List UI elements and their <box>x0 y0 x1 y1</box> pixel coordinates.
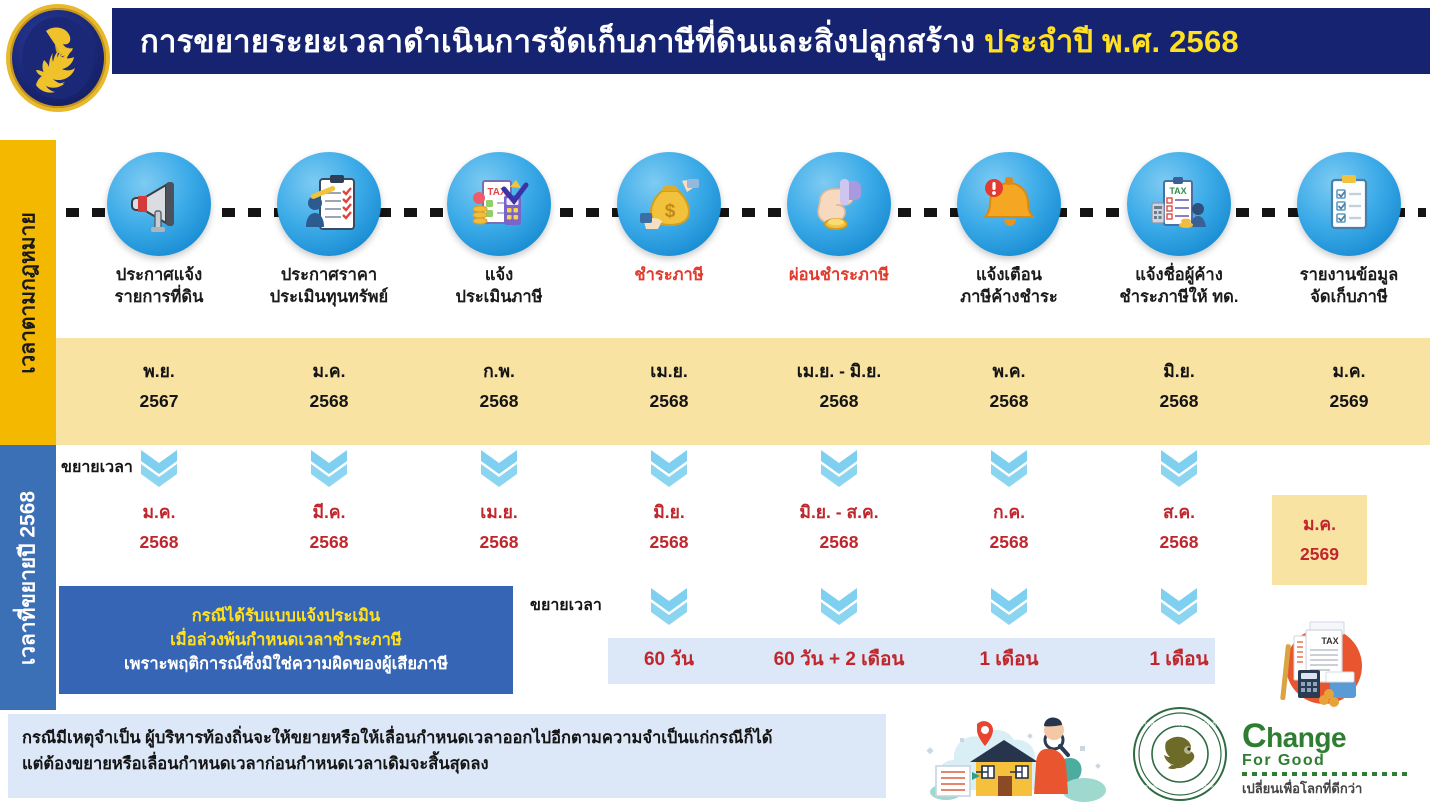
chevron-down-icon-3 <box>478 447 520 487</box>
extended-date-1: ม.ค.2568 <box>74 497 244 557</box>
legal-date-5: เม.ย. - มิ.ย.2568 <box>754 356 924 416</box>
chevron-down-icon-11 <box>1158 585 1200 625</box>
timeline-step-7-label: แจ้งชื่อผู้ค้างชำระภาษีให้ ทด. <box>1094 265 1264 309</box>
timeline-step-8-label: รายงานข้อมูลจัดเก็บภาษี <box>1264 265 1430 309</box>
page-header: การขยายระยะเวลาดำเนินการจัดเก็บภาษีที่ดิ… <box>0 0 1430 82</box>
legal-date-1: พ.ย.2567 <box>74 356 244 416</box>
svg-text:DEPARTMENT OF LOCAL ADMINISTRA: DEPARTMENT OF LOCAL ADMINISTRATION <box>1133 784 1228 789</box>
legal-date-4: เม.ย.2568 <box>584 356 754 416</box>
chevron-down-icon-5 <box>818 447 860 487</box>
timeline-step-4[interactable]: $ ชำระภาษี <box>584 142 754 287</box>
extended-date-2: มี.ค.2568 <box>244 497 414 557</box>
extend-tag-row2: ขยายเวลา <box>530 593 602 618</box>
timeline-step-3-label: แจ้งประเมินภาษี <box>414 265 584 309</box>
garuda-singha-emblem <box>6 4 110 112</box>
extended-date-5: มิ.ย. - ส.ค.2568 <box>754 497 924 557</box>
timeline-step-6[interactable]: แจ้งเตือนภาษีค้างชำระ <box>924 142 1094 309</box>
header-bar: การขยายระยะเวลาดำเนินการจัดเก็บภาษีที่ดิ… <box>112 8 1430 74</box>
change-for-good-logo: Change For Good เปลี่ยนเพื่อโลกที่ดีกว่า <box>1242 720 1410 796</box>
timeline-step-4-label: ชำระภาษี <box>584 265 754 287</box>
tax-documents-illustration: TAX <box>1268 608 1376 710</box>
timeline-step-5-label: ผ่อนชำระภาษี <box>754 265 924 287</box>
page-title-main: การขยายระยะเวลาดำเนินการจัดเก็บภาษีที่ดิ… <box>140 24 975 59</box>
svg-text:TAX: TAX <box>1169 186 1186 196</box>
extended-date-4: มิ.ย.2568 <box>584 497 754 557</box>
duration-3: 1 เดือน <box>924 644 1094 674</box>
legal-date-2: ม.ค.2568 <box>244 356 414 416</box>
sidebar-extended-label: เวลาที่ขยายปี 2568 <box>12 490 45 664</box>
chevron-down-icon-8 <box>648 585 690 625</box>
duration-2: 60 วัน + 2 เดือน <box>754 644 924 674</box>
sidebar-extended-time: เวลาที่ขยายปี 2568 <box>0 445 56 710</box>
chevron-down-icon-10 <box>988 585 1030 625</box>
cfg-hange-letters: hange <box>1266 722 1346 753</box>
page-title: การขยายระยะเวลาดำเนินการจัดเก็บภาษีที่ดิ… <box>140 16 1239 66</box>
legal-date-6: พ.ค.2568 <box>924 356 1094 416</box>
alert-bell-icon <box>957 152 1061 256</box>
cfg-change-text: Change <box>1242 720 1410 752</box>
page-title-year: ประจำปี พ.ศ. 2568 <box>984 24 1239 59</box>
chevron-down-icon-9 <box>818 585 860 625</box>
extended-date-7: ส.ค.2568 <box>1094 497 1264 557</box>
legal-date-3: ก.พ.2568 <box>414 356 584 416</box>
callout-line-3: เพราะพฤติการณ์ซึ่งมิใช่ความผิดของผู้เสีย… <box>124 653 448 675</box>
tax-assessment-icon: TAX <box>447 152 551 256</box>
extend-tag-row1: ขยายเวลา <box>61 455 133 480</box>
cfg-thai-tagline: เปลี่ยนเพื่อโลกที่ดีกว่า <box>1242 778 1410 799</box>
timeline-step-7[interactable]: TAX แจ้งชื่อผู้ค้างชำระภาษีให้ ทด. <box>1094 142 1264 309</box>
extended-date-8-boxed: ม.ค.2569 <box>1272 495 1367 585</box>
footer-note: กรณีมีเหตุจำเป็น ผู้บริหารท้องถิ่นจะให้ข… <box>8 714 886 798</box>
footer-line-1: กรณีมีเหตุจำเป็น ผู้บริหารท้องถิ่นจะให้ข… <box>22 725 872 751</box>
timeline-step-5[interactable]: ผ่อนชำระภาษี <box>754 142 924 287</box>
timeline-step-6-label: แจ้งเตือนภาษีค้างชำระ <box>924 265 1094 309</box>
megaphone-icon <box>107 152 211 256</box>
chevron-down-icon-1 <box>138 447 180 487</box>
svg-text:TAX: TAX <box>1321 636 1338 646</box>
callout-line-1: กรณีได้รับแบบแจ้งประเมิน <box>192 605 380 627</box>
svg-text:กรมส่งเสริมการปกครองท้องถิ่น: กรมส่งเสริมการปกครองท้องถิ่น <box>1140 720 1220 728</box>
footer-line-2: แต่ต้องขยายหรือเลื่อนกำหนดเวลาก่อนกำหนดเ… <box>22 751 872 777</box>
svg-text:$: $ <box>665 201 676 222</box>
clipboard-person-icon <box>277 152 381 256</box>
cfg-c-letter: C <box>1242 717 1266 755</box>
cfg-divider-dots <box>1242 772 1410 776</box>
extended-date-6: ก.ค.2568 <box>924 497 1094 557</box>
duration-4: 1 เดือน <box>1094 644 1264 674</box>
department-of-local-administration-seal: กรมส่งเสริมการปกครองท้องถิ่น DEPARTMENT … <box>1132 706 1228 802</box>
tax-document-icon: TAX <box>1127 152 1231 256</box>
extended-date-3: เม.ย.2568 <box>414 497 584 557</box>
sidebar-legal-time: เวลาตามกฎหมาย <box>0 140 56 445</box>
callout-line-2: เมื่อล่วงพ้นกำหนดเวลาชำระภาษี <box>170 629 402 651</box>
duration-1: 60 วัน <box>584 644 754 674</box>
chevron-down-icon-6 <box>988 447 1030 487</box>
chevron-down-icon-4 <box>648 447 690 487</box>
legal-date-7: มิ.ย.2568 <box>1094 356 1264 416</box>
timeline-step-2[interactable]: ประกาศราคาประเมินทุนทรัพย์ <box>244 142 414 309</box>
money-bag-icon: $ <box>617 152 721 256</box>
legal-dates-band: พ.ย.2567 ม.ค.2568 ก.พ.2568 เม.ย.2568 เม.… <box>56 338 1430 445</box>
chevron-down-icon-2 <box>308 447 350 487</box>
legal-date-8: ม.ค.2569 <box>1264 356 1430 416</box>
house-inspection-illustration <box>920 712 1110 804</box>
assessment-notice-callout: กรณีได้รับแบบแจ้งประเมิน เมื่อล่วงพ้นกำห… <box>59 586 513 694</box>
timeline-steps: ประกาศแจ้งรายการที่ดิน ประกาศราคาประเมิน… <box>56 142 1430 338</box>
cfg-forgood-text: For Good <box>1242 753 1410 769</box>
hand-coin-icon <box>787 152 891 256</box>
timeline-step-8[interactable]: รายงานข้อมูลจัดเก็บภาษี <box>1264 142 1430 309</box>
sidebar-legal-label: เวลาตามกฎหมาย <box>12 212 45 374</box>
timeline-step-3[interactable]: TAX แจ้งประเมินภาษี <box>414 142 584 309</box>
timeline-step-1-label: ประกาศแจ้งรายการที่ดิน <box>74 265 244 309</box>
timeline-step-2-label: ประกาศราคาประเมินทุนทรัพย์ <box>244 265 414 309</box>
chevron-down-icon-7 <box>1158 447 1200 487</box>
checklist-icon <box>1297 152 1401 256</box>
timeline-step-1[interactable]: ประกาศแจ้งรายการที่ดิน <box>74 142 244 309</box>
